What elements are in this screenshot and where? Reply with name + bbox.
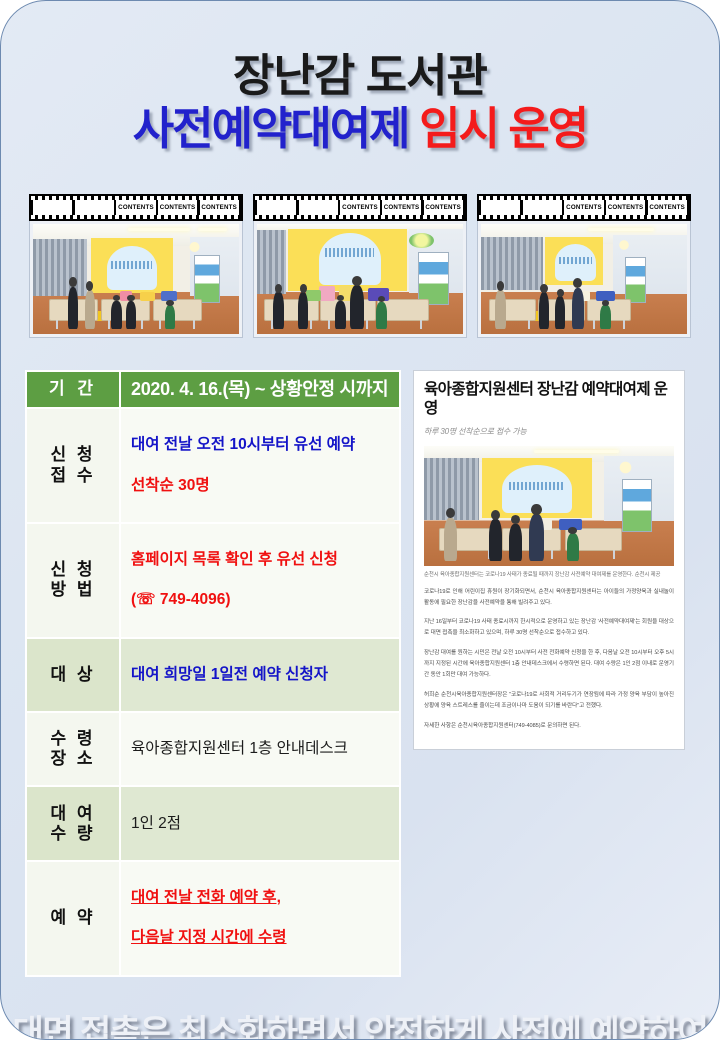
article-headline: 육아종합지원센터 장난감 예약대여제 운영 xyxy=(424,380,674,419)
table-row-target: 대 상 대여 희망일 1일전 예약 신청자 xyxy=(26,638,400,712)
row-label-method: 신 청 방 법 xyxy=(26,523,120,638)
photo-card-3: CONTENTS CONTENTS CONTENTS xyxy=(477,194,691,338)
article-paragraph: 지난 16일부터 코로나19 사태 종료시까지 한시적으로 운영하고 있는 장난… xyxy=(424,617,674,639)
film-frame-2 xyxy=(75,200,114,215)
row-label-application: 신 청 접 수 xyxy=(26,408,120,523)
film-frame-1 xyxy=(481,200,520,215)
value-line: 홈페이지 목록 확인 후 유선 신청 xyxy=(131,550,391,570)
article-paragraph: 코로나19로 인해 어린이집 휴원이 장기화되면서, 순천시 육아종합지원센터는… xyxy=(424,587,674,609)
row-label-pickup-place: 수 령 장 소 xyxy=(26,712,120,786)
value-line-phone: (☏ 749-4096) xyxy=(131,590,391,610)
info-table: 기 간 2020. 4. 16.(목) ~ 상황안정 시까지 신 청 접 수 대… xyxy=(25,370,401,977)
film-frame-5: CONTENTS xyxy=(424,200,463,215)
value-line: 대여 전날 오전 10시부터 유선 예약 xyxy=(131,435,391,455)
poster-title: 장난감 도서관 사전예약대여제 임시 운영 xyxy=(1,1,719,152)
article-photo-caption: 순천시 육아종합지원센터는 코로나19 사태가 종료될 때까지 장난감 사전예약… xyxy=(424,571,674,579)
row-value-reservation: 대여 전날 전화 예약 후, 다음날 지정 시간에 수령 xyxy=(120,861,400,976)
table-row-application: 신 청 접 수 대여 전날 오전 10시부터 유선 예약 선착순 30명 xyxy=(26,408,400,523)
row-label-quantity: 대 여 수 량 xyxy=(26,786,120,860)
film-frame-5: CONTENTS xyxy=(648,200,687,215)
article-paragraph: 자세한 사항은 순천시육아종합지원센터(749-4085)로 문의하면 된다. xyxy=(424,721,674,732)
value-line: 1인 2점 xyxy=(131,814,391,834)
photo-strip-row: CONTENTS CONTENTS CONTENTS xyxy=(1,194,719,338)
row-label-target: 대 상 xyxy=(26,638,120,712)
film-frame-4: CONTENTS xyxy=(606,200,645,215)
film-frame-4: CONTENTS xyxy=(382,200,421,215)
table-row-quantity: 대 여 수 량 1인 2점 xyxy=(26,786,400,860)
film-frame-2 xyxy=(523,200,562,215)
filmstrip-header-2: CONTENTS CONTENTS CONTENTS xyxy=(253,194,467,221)
footer-slogan: 대면 접촉은 최소화하면서 안전하게 사전에 예약하여 장난감 대여해 가세요. xyxy=(1,1011,719,1040)
article-paragraph: 허희순 순천시육아종합지원센터장은 "코로나19로 사회적 거리두기가 연장됨에… xyxy=(424,690,674,712)
film-frame-1 xyxy=(33,200,72,215)
film-frame-3: CONTENTS xyxy=(116,200,155,215)
photo-image-3 xyxy=(477,221,691,338)
film-frame-4: CONTENTS xyxy=(158,200,197,215)
title-line-2: 사전예약대여제 임시 운영 xyxy=(1,106,719,152)
film-frame-1 xyxy=(257,200,296,215)
table-row-method: 신 청 방 법 홈페이지 목록 확인 후 유선 신청 (☏ 749-4096) xyxy=(26,523,400,638)
row-value-period: 2020. 4. 16.(목) ~ 상황안정 시까지 xyxy=(120,371,400,408)
filmstrip-header-3: CONTENTS CONTENTS CONTENTS xyxy=(477,194,691,221)
table-row-reservation: 예 약 대여 전날 전화 예약 후, 다음날 지정 시간에 수령 xyxy=(26,861,400,976)
row-value-quantity: 1인 2점 xyxy=(120,786,400,860)
table-row-period: 기 간 2020. 4. 16.(목) ~ 상황안정 시까지 xyxy=(26,371,400,408)
row-value-target: 대여 희망일 1일전 예약 신청자 xyxy=(120,638,400,712)
row-label-period: 기 간 xyxy=(26,371,120,408)
slogan-line-1: 대면 접촉은 최소화하면서 안전하게 사전에 예약하여 xyxy=(1,1011,719,1040)
photo-card-1: CONTENTS CONTENTS CONTENTS xyxy=(29,194,243,338)
film-frame-3: CONTENTS xyxy=(340,200,379,215)
value-line: 대여 전날 전화 예약 후, xyxy=(131,888,391,908)
table-row-pickup-place: 수 령 장 소 육아종합지원센터 1층 안내데스크 xyxy=(26,712,400,786)
value-line: 선착순 30명 xyxy=(131,476,391,496)
photo-image-2 xyxy=(253,221,467,338)
article-body: 코로나19로 인해 어린이집 휴원이 장기화되면서, 순천시 육아종합지원센터는… xyxy=(424,587,674,732)
photo-card-2: CONTENTS CONTENTS CONTENTS xyxy=(253,194,467,338)
film-frame-3: CONTENTS xyxy=(564,200,603,215)
film-frame-2 xyxy=(299,200,338,215)
film-frame-5: CONTENTS xyxy=(200,200,239,215)
title-line-2-red: 임시 운영 xyxy=(419,103,587,154)
news-article-panel: 육아종합지원센터 장난감 예약대여제 운영 하루 30명 선착순으로 접수 가능 xyxy=(413,370,685,750)
row-label-reservation: 예 약 xyxy=(26,861,120,976)
middle-section: 기 간 2020. 4. 16.(목) ~ 상황안정 시까지 신 청 접 수 대… xyxy=(1,370,719,977)
title-line-1: 장난감 도서관 xyxy=(1,53,719,99)
article-paragraph: 장난감 대여를 원하는 시민은 전날 오전 10시부터 사전 전화예약 신청을 … xyxy=(424,648,674,681)
row-value-application: 대여 전날 오전 10시부터 유선 예약 선착순 30명 xyxy=(120,408,400,523)
value-line: 다음날 지정 시간에 수령 xyxy=(131,928,391,948)
value-line: 대여 희망일 1일전 예약 신청자 xyxy=(131,665,391,685)
row-value-method: 홈페이지 목록 확인 후 유선 신청 (☏ 749-4096) xyxy=(120,523,400,638)
filmstrip-header-1: CONTENTS CONTENTS CONTENTS xyxy=(29,194,243,221)
photo-image-1 xyxy=(29,221,243,338)
article-subhead: 하루 30명 선착순으로 접수 가능 xyxy=(424,426,674,437)
article-photo xyxy=(424,446,674,566)
poster-canvas: 장난감 도서관 사전예약대여제 임시 운영 CONTENTS CONTENTS … xyxy=(0,0,720,1040)
title-line-2-blue: 사전예약대여제 xyxy=(133,103,409,154)
value-line: 육아종합지원센터 1층 안내데스크 xyxy=(131,739,391,759)
row-value-pickup-place: 육아종합지원센터 1층 안내데스크 xyxy=(120,712,400,786)
